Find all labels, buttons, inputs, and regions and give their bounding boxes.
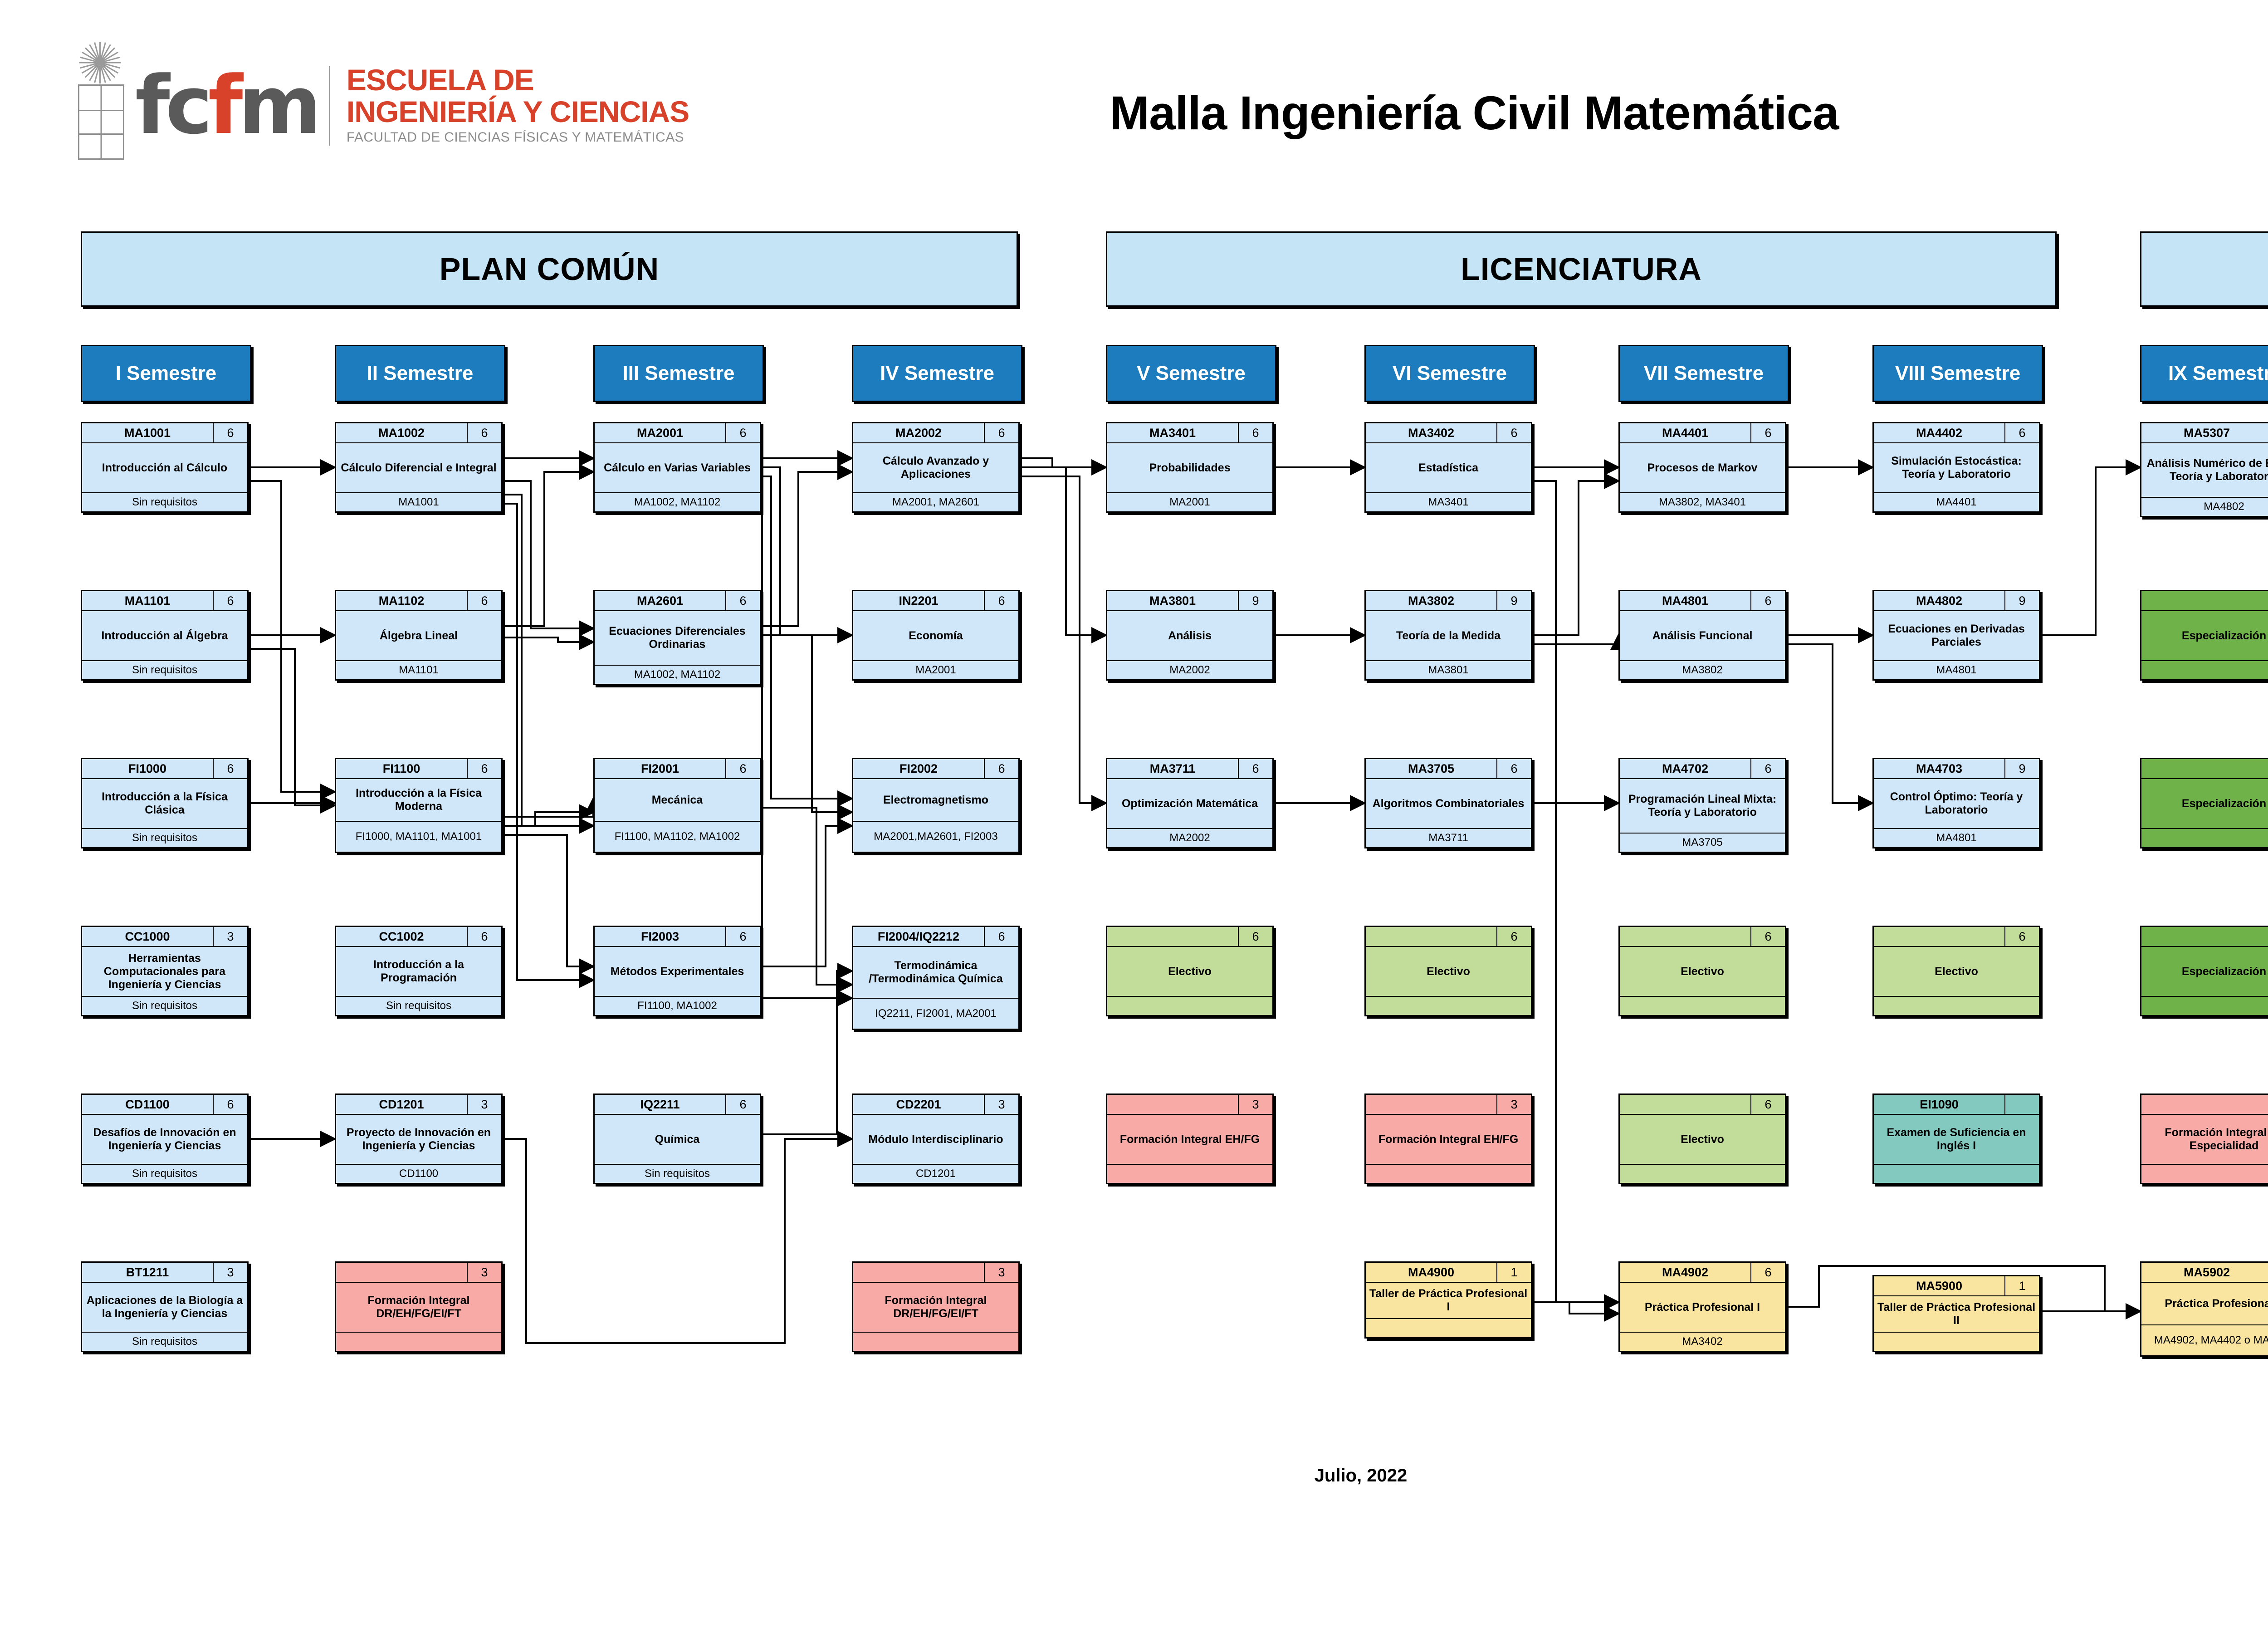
course-code	[2141, 1095, 2268, 1114]
course-requirements	[1620, 1164, 1785, 1183]
course-credits: 3	[1239, 1095, 1272, 1114]
course-code: MA4402	[1874, 423, 2005, 442]
course-requirements: MA2002	[1107, 660, 1272, 679]
course-requirements: MA1002, MA1102	[595, 665, 760, 684]
course-name: Electivo	[1107, 947, 1272, 996]
course-code: EI1090	[1874, 1095, 2005, 1114]
universidad-de-chile-crest-icon	[68, 49, 132, 162]
course-card-FI2003[interactable]: FI20036Métodos ExperimentalesFI1100, MA1…	[593, 926, 761, 1016]
semester-header-label: IX Semestre	[2168, 362, 2268, 385]
course-credits: 3	[468, 1263, 501, 1282]
course-credits: 6	[1497, 423, 1531, 442]
course-name: Teoría de la Medida	[1366, 611, 1531, 660]
course-name: Análisis Funcional	[1620, 611, 1785, 660]
course-name: Introducción a la Física Moderna	[336, 779, 501, 821]
course-requirements: FI1000, MA1101, MA1001	[336, 821, 501, 852]
course-card[interactable]: 6Electivo	[1872, 926, 2040, 1016]
course-name: Desafíos de Innovación en Ingeniería y C…	[82, 1115, 247, 1164]
course-code: MA4401	[1620, 423, 1751, 442]
course-card-MA4900[interactable]: MA49001Taller de Práctica Profesional I	[1364, 1261, 1532, 1339]
course-requirements: IQ2211, FI2001, MA2001	[853, 998, 1018, 1029]
course-code: MA2001	[595, 423, 726, 442]
course-credits	[2005, 1095, 2039, 1114]
course-requirements: MA2001	[853, 660, 1018, 679]
semester-header-label: V Semestre	[1137, 362, 1246, 385]
course-credits: 6	[1751, 1095, 1785, 1114]
course-credits: 6	[726, 591, 760, 610]
course-code: MA3705	[1366, 759, 1497, 778]
course-code	[336, 1263, 468, 1282]
course-credits: 6	[214, 591, 247, 610]
semester-header-5[interactable]: V Semestre	[1106, 345, 1276, 402]
course-name: Electivo	[1874, 947, 2039, 996]
course-name: Taller de Práctica Profesional I	[1366, 1283, 1531, 1318]
course-card[interactable]: 6Electivo	[1106, 926, 1274, 1016]
course-code	[1366, 927, 1497, 946]
course-card-MA3801[interactable]: MA38019AnálisisMA2002	[1106, 590, 1274, 681]
course-credits: 3	[214, 1263, 247, 1282]
course-card-MA1102[interactable]: MA11026Álgebra LinealMA1101	[335, 590, 503, 681]
course-code	[1366, 1095, 1497, 1114]
course-code	[1107, 1095, 1239, 1114]
course-name: Análisis	[1107, 611, 1272, 660]
course-code: MA4900	[1366, 1263, 1497, 1282]
semester-header-label: III Semestre	[622, 362, 734, 385]
semester-header-label: VI Semestre	[1393, 362, 1507, 385]
section-band-2: LICENCIATURA	[1106, 231, 2057, 307]
course-card-FI1100[interactable]: FI11006Introducción a la Física ModernaF…	[335, 758, 503, 853]
revision-date: Julio, 2022	[1225, 1466, 1497, 1486]
course-name: Formación Integral EH/FG	[1107, 1115, 1272, 1164]
semester-header-4[interactable]: IV Semestre	[852, 345, 1022, 402]
course-card-MA4401[interactable]: MA44016Procesos de MarkovMA3802, MA3401	[1618, 422, 1786, 513]
course-code: MA5902	[2141, 1263, 2268, 1282]
course-credits: 9	[2005, 591, 2039, 610]
course-credits: 6	[1751, 1263, 1785, 1282]
course-code	[1620, 927, 1751, 946]
course-requirements	[1874, 996, 2039, 1015]
course-credits: 6	[468, 759, 501, 778]
course-card-MA3402[interactable]: MA34026EstadísticaMA3401	[1364, 422, 1532, 513]
course-requirements: CD1201	[853, 1164, 1018, 1183]
course-code: CC1000	[82, 927, 214, 946]
course-requirements	[2141, 828, 2268, 847]
course-card-MA3401[interactable]: MA34016ProbabilidadesMA2001	[1106, 422, 1274, 513]
course-code: MA4902	[1620, 1263, 1751, 1282]
course-requirements: MA2002	[1107, 828, 1272, 847]
course-credits: 9	[2005, 759, 2039, 778]
course-name: Práctica Profesional I	[1620, 1283, 1785, 1332]
course-requirements: MA3802	[1620, 660, 1785, 679]
course-code: MA3402	[1366, 423, 1497, 442]
course-code: MA3802	[1366, 591, 1497, 610]
course-requirements: MA4802	[2141, 497, 2268, 516]
course-requirements: MA3705	[1620, 833, 1785, 852]
course-requirements: MA3401	[1366, 492, 1531, 511]
course-requirements	[1874, 1164, 2039, 1183]
course-credits: 6	[214, 423, 247, 442]
course-code	[1107, 927, 1239, 946]
course-name: Formación Integral DR/EH/FG/EI/FT	[853, 1283, 1018, 1332]
course-credits: 6	[726, 1095, 760, 1114]
course-name: Especialización	[2141, 611, 2268, 660]
course-card-CC1002[interactable]: CC10026Introducción a la ProgramaciónSin…	[335, 926, 503, 1016]
course-name: Mecánica	[595, 779, 760, 821]
semester-header-label: II Semestre	[367, 362, 474, 385]
section-band-1: PLAN COMÚN	[81, 231, 1018, 307]
course-name: Examen de Suficiencia en Inglés I	[1874, 1115, 2039, 1164]
course-card[interactable]: 6Electivo	[1364, 926, 1532, 1016]
course-name: Formación Integral de Especialidad	[2141, 1115, 2268, 1164]
course-code: MA1001	[82, 423, 214, 442]
semester-header-2[interactable]: II Semestre	[335, 345, 505, 402]
course-card-MA5307[interactable]: MA53079Análisis Numérico de EDP's: Teorí…	[2140, 422, 2268, 517]
logo-line-1: ESCUELA DE	[347, 64, 748, 96]
course-card-MA4802[interactable]: MA48029Ecuaciones en Derivadas Parciales…	[1872, 590, 2040, 681]
course-credits: 6	[985, 423, 1018, 442]
semester-header-7[interactable]: VII Semestre	[1618, 345, 1789, 402]
course-credits: 1	[1497, 1263, 1531, 1282]
course-credits: 3	[468, 1095, 501, 1114]
course-credits: 6	[1239, 759, 1272, 778]
course-credits: 9	[1239, 591, 1272, 610]
course-code: MA4703	[1874, 759, 2005, 778]
course-card-MA4702[interactable]: MA47026Programación Lineal Mixta: Teoría…	[1618, 758, 1786, 853]
course-requirements	[853, 1332, 1018, 1351]
course-code: IN2201	[853, 591, 985, 610]
course-name: Proyecto de Innovación en Ingeniería y C…	[336, 1115, 501, 1164]
course-requirements: MA3802, MA3401	[1620, 492, 1785, 511]
course-credits: 6	[726, 759, 760, 778]
course-card[interactable]: 3Formación Integral DR/EH/FG/EI/FT	[852, 1261, 1020, 1352]
course-code: MA5900	[1874, 1276, 2005, 1295]
course-credits: 6	[468, 927, 501, 946]
section-band-label: PLAN COMÚN	[440, 251, 659, 287]
course-code: CD2201	[853, 1095, 985, 1114]
course-name: Electivo	[1620, 947, 1785, 996]
course-card-CD1201[interactable]: CD12013Proyecto de Innovación en Ingenie…	[335, 1094, 503, 1184]
course-requirements: MA1002, MA1102	[595, 492, 760, 511]
course-name: Cálculo Diferencial e Integral	[336, 443, 501, 492]
course-requirements: Sin requisitos	[82, 1164, 247, 1183]
course-card[interactable]: 3Formación Integral EH/FG	[1106, 1094, 1274, 1184]
course-credits: 3	[985, 1095, 1018, 1114]
course-requirements	[2141, 1164, 2268, 1183]
course-code: FI2001	[595, 759, 726, 778]
course-requirements: CD1100	[336, 1164, 501, 1183]
course-code: IQ2211	[595, 1095, 726, 1114]
course-name: Especialización	[2141, 779, 2268, 828]
course-card-FI2001[interactable]: FI20016MecánicaFI1100, MA1102, MA1002	[593, 758, 761, 853]
escuela-name: ESCUELA DE INGENIERÍA Y CIENCIAS FACULTA…	[342, 64, 748, 147]
course-card-MA3802[interactable]: MA38029Teoría de la MedidaMA3801	[1364, 590, 1532, 681]
course-name: Procesos de Markov	[1620, 443, 1785, 492]
course-card[interactable]: 3Formación Integral de Especialidad	[2140, 1094, 2268, 1184]
course-name: Optimización Matemática	[1107, 779, 1272, 828]
semester-header-1[interactable]: I Semestre	[81, 345, 251, 402]
semester-header-label: IV Semestre	[880, 362, 994, 385]
semester-header-label: VIII Semestre	[1895, 362, 2020, 385]
course-requirements: MA2001, MA2601	[853, 492, 1018, 511]
course-name: Introducción a la Programación	[336, 947, 501, 996]
course-requirements	[1874, 1332, 2039, 1351]
course-name: Especialización	[2141, 947, 2268, 996]
course-card[interactable]: 3Formación Integral EH/FG	[1364, 1094, 1532, 1184]
fcfm-wordmark: fcfm	[135, 66, 330, 146]
course-requirements: FI1100, MA1002	[595, 996, 760, 1015]
course-credits: 6	[468, 423, 501, 442]
course-code: FI2004/IQ2212	[853, 927, 985, 946]
course-credits: 6	[985, 759, 1018, 778]
course-card-MA3705[interactable]: MA37056Algoritmos CombinatorialesMA3711	[1364, 758, 1532, 848]
course-card-CD2201[interactable]: CD22013Módulo InterdisciplinarioCD1201	[852, 1094, 1020, 1184]
course-requirements: MA4801	[1874, 828, 2039, 847]
course-code: MA3401	[1107, 423, 1239, 442]
course-credits: 6	[726, 927, 760, 946]
course-code: CC1002	[336, 927, 468, 946]
course-code: MA2601	[595, 591, 726, 610]
course-name: Termodinámica /Termodinámica Química	[853, 947, 1018, 998]
course-name: Ecuaciones en Derivadas Parciales	[1874, 611, 2039, 660]
course-credits: 6	[214, 759, 247, 778]
course-name: Cálculo en Varias Variables	[595, 443, 760, 492]
course-name: Práctica Profesional II	[2141, 1283, 2268, 1324]
course-card-IN2201[interactable]: IN22016EconomíaMA2001	[852, 590, 1020, 681]
semester-header-3[interactable]: III Semestre	[593, 345, 764, 402]
semester-header-8[interactable]: VIII Semestre	[1872, 345, 2043, 402]
course-requirements	[1366, 1318, 1531, 1337]
course-requirements	[336, 1332, 501, 1351]
course-code: MA4801	[1620, 591, 1751, 610]
course-name: Electivo	[1366, 947, 1531, 996]
course-name: Introducción a la Física Clásica	[82, 779, 247, 828]
course-card-MA2002[interactable]: MA20026Cálculo Avanzado y AplicacionesMA…	[852, 422, 1020, 513]
course-code: MA3801	[1107, 591, 1239, 610]
course-credits: 6	[1239, 423, 1272, 442]
course-name: Estadística	[1366, 443, 1531, 492]
course-code	[1874, 927, 2005, 946]
course-card-MA5900[interactable]: MA59001Taller de Práctica Profesional II	[1872, 1275, 2040, 1352]
course-requirements	[1107, 1164, 1272, 1183]
course-credits: 6	[1751, 927, 1785, 946]
course-code: MA2002	[853, 423, 985, 442]
course-code: CD1100	[82, 1095, 214, 1114]
course-name: Química	[595, 1115, 760, 1164]
course-name: Electivo	[1620, 1115, 1785, 1164]
course-requirements: MA2001,MA2601, FI2003	[853, 821, 1018, 852]
course-name: Taller de Práctica Profesional II	[1874, 1296, 2039, 1332]
course-card-MA4801[interactable]: MA48016Análisis FuncionalMA3802	[1618, 590, 1786, 681]
course-card-CD1100[interactable]: CD11006Desafíos de Innovación en Ingenie…	[81, 1094, 249, 1184]
course-code: MA1101	[82, 591, 214, 610]
course-code: FI1100	[336, 759, 468, 778]
course-requirements: MA3801	[1366, 660, 1531, 679]
course-name: Programación Lineal Mixta: Teoría y Labo…	[1620, 779, 1785, 833]
course-name: Probabilidades	[1107, 443, 1272, 492]
course-card-CC1000[interactable]: CC10003Herramientas Computacionales para…	[81, 926, 249, 1016]
course-name: Álgebra Lineal	[336, 611, 501, 660]
course-name: Economía	[853, 611, 1018, 660]
course-requirements: MA3402	[1620, 1332, 1785, 1351]
course-card[interactable]: 6Especialización	[2140, 590, 2268, 681]
course-code: MA1002	[336, 423, 468, 442]
course-code	[2141, 591, 2268, 610]
course-code: MA3711	[1107, 759, 1239, 778]
course-card-IQ2211[interactable]: IQ22116QuímicaSin requisitos	[593, 1094, 761, 1184]
course-requirements: Sin requisitos	[336, 996, 501, 1015]
course-card-BT1211[interactable]: BT12113Aplicaciones de la Biología a la …	[81, 1261, 249, 1352]
course-requirements: MA1001	[336, 492, 501, 511]
semester-header-label: VII Semestre	[1644, 362, 1764, 385]
semester-header-9[interactable]: IX Semestre	[2140, 345, 2268, 402]
course-code: MA5307	[2141, 423, 2268, 442]
course-card-MA3711[interactable]: MA37116Optimización MatemáticaMA2002	[1106, 758, 1274, 848]
course-credits: 6	[1751, 591, 1785, 610]
course-name: Simulación Estocástica: Teoría y Laborat…	[1874, 443, 2039, 492]
course-requirements	[1107, 996, 1272, 1015]
course-requirements	[1620, 996, 1785, 1015]
course-credits: 3	[1497, 1095, 1531, 1114]
course-credits: 6	[1239, 927, 1272, 946]
course-name: Ecuaciones Diferenciales Ordinarias	[595, 611, 760, 665]
course-name: Formación Integral DR/EH/FG/EI/FT	[336, 1283, 501, 1332]
fcfm-logo: fcfm ESCUELA DE INGENIERÍA Y CIENCIAS FA…	[68, 40, 748, 172]
course-name: Control Óptimo: Teoría y Laboratorio	[1874, 779, 2039, 828]
course-requirements: Sin requisitos	[82, 996, 247, 1015]
course-name: Electromagnetismo	[853, 779, 1018, 821]
section-band-3: ESPECIALIDAD	[2140, 231, 2268, 307]
section-band-label: LICENCIATURA	[1461, 251, 1702, 287]
course-requirements: MA4401	[1874, 492, 2039, 511]
course-credits: 6	[1751, 423, 1785, 442]
course-card-MA4402[interactable]: MA44026Simulación Estocástica: Teoría y …	[1872, 422, 2040, 513]
course-credits: 6	[985, 591, 1018, 610]
course-code: MA1102	[336, 591, 468, 610]
course-name: Algoritmos Combinatoriales	[1366, 779, 1531, 828]
course-credits: 6	[214, 1095, 247, 1114]
course-requirements	[2141, 996, 2268, 1015]
course-card-MA1002[interactable]: MA10026Cálculo Diferencial e IntegralMA1…	[335, 422, 503, 513]
course-card-MA2001[interactable]: MA20016Cálculo en Varias VariablesMA1002…	[593, 422, 761, 513]
course-name: Análisis Numérico de EDP's: Teoría y Lab…	[2141, 443, 2268, 497]
logo-line-2: INGENIERÍA Y CIENCIAS	[347, 96, 748, 128]
course-requirements: MA4801	[1874, 660, 2039, 679]
course-card-FI2004-IQ2212[interactable]: FI2004/IQ22126Termodinámica /Termodinámi…	[852, 926, 1020, 1030]
course-code: BT1211	[82, 1263, 214, 1282]
course-requirements: Sin requisitos	[595, 1164, 760, 1183]
logo-line-3: FACULTAD DE CIENCIAS FÍSICAS Y MATEMÁTIC…	[347, 128, 748, 147]
course-card-MA1101[interactable]: MA11016Introducción al ÁlgebraSin requis…	[81, 590, 249, 681]
course-code	[2141, 927, 2268, 946]
course-name: Cálculo Avanzado y Aplicaciones	[853, 443, 1018, 492]
course-requirements: MA2001	[1107, 492, 1272, 511]
course-card-FI2002[interactable]: FI20026ElectromagnetismoMA2001,MA2601, F…	[852, 758, 1020, 853]
course-name: Herramientas Computacionales para Ingeni…	[82, 947, 247, 996]
course-requirements: FI1100, MA1102, MA1002	[595, 821, 760, 852]
course-card-MA2601[interactable]: MA26016Ecuaciones Diferenciales Ordinari…	[593, 590, 761, 685]
course-code: FI1000	[82, 759, 214, 778]
course-name: Introducción al Cálculo	[82, 443, 247, 492]
course-code: FI2002	[853, 759, 985, 778]
course-card-MA5902[interactable]: MA59026Práctica Profesional IIMA4902, MA…	[2140, 1261, 2268, 1357]
course-requirements: Sin requisitos	[82, 660, 247, 679]
course-requirements: Sin requisitos	[82, 492, 247, 511]
course-code: MA4702	[1620, 759, 1751, 778]
course-credits: 6	[1497, 759, 1531, 778]
course-credits: 6	[1497, 927, 1531, 946]
course-name: Introducción al Álgebra	[82, 611, 247, 660]
course-card-EI1090[interactable]: EI1090Examen de Suficiencia en Inglés I	[1872, 1094, 2040, 1184]
course-requirements: MA1101	[336, 660, 501, 679]
course-credits: 1	[2005, 1276, 2039, 1295]
course-card-MA4703[interactable]: MA47039Control Óptimo: Teoría y Laborato…	[1872, 758, 2040, 848]
course-requirements: MA3711	[1366, 828, 1531, 847]
course-requirements	[1366, 996, 1531, 1015]
course-requirements	[1366, 1164, 1531, 1183]
course-card-MA4902[interactable]: MA49026Práctica Profesional IMA3402	[1618, 1261, 1786, 1352]
course-credits: 6	[1751, 759, 1785, 778]
course-credits: 6	[2005, 927, 2039, 946]
course-requirements: MA4902, MA4402 o MA4703	[2141, 1324, 2268, 1355]
course-card[interactable]: 6Electivo	[1618, 1094, 1786, 1184]
course-credits: 6	[726, 423, 760, 442]
course-card[interactable]: 3Formación Integral DR/EH/FG/EI/FT	[335, 1261, 503, 1352]
course-credits: 6	[985, 927, 1018, 946]
course-credits: 9	[1497, 591, 1531, 610]
course-requirements	[2141, 660, 2268, 679]
course-code: MA4802	[1874, 591, 2005, 610]
course-name: Formación Integral EH/FG	[1366, 1115, 1531, 1164]
course-code: CD1201	[336, 1095, 468, 1114]
course-credits: 6	[2005, 423, 2039, 442]
course-code	[2141, 759, 2268, 778]
semester-header-6[interactable]: VI Semestre	[1364, 345, 1535, 402]
course-card[interactable]: 6Especialización	[2140, 926, 2268, 1016]
course-name: Métodos Experimentales	[595, 947, 760, 996]
course-card[interactable]: 6Electivo	[1618, 926, 1786, 1016]
course-name: Aplicaciones de la Biología a la Ingenie…	[82, 1283, 247, 1332]
course-requirements: Sin requisitos	[82, 828, 247, 847]
course-name: Módulo Interdisciplinario	[853, 1115, 1018, 1164]
course-requirements: Sin requisitos	[82, 1332, 247, 1351]
course-code: FI2003	[595, 927, 726, 946]
page-title: Malla Ingeniería Civil Matemática	[975, 86, 1973, 141]
course-credits: 3	[214, 927, 247, 946]
course-code	[853, 1263, 985, 1282]
course-card-FI1000[interactable]: FI10006Introducción a la Física ClásicaS…	[81, 758, 249, 848]
course-credits: 6	[468, 591, 501, 610]
course-code	[1620, 1095, 1751, 1114]
course-credits: 3	[985, 1263, 1018, 1282]
course-card[interactable]: 6Especialización	[2140, 758, 2268, 848]
course-card-MA1001[interactable]: MA10016Introducción al CálculoSin requis…	[81, 422, 249, 513]
semester-header-label: I Semestre	[116, 362, 217, 385]
